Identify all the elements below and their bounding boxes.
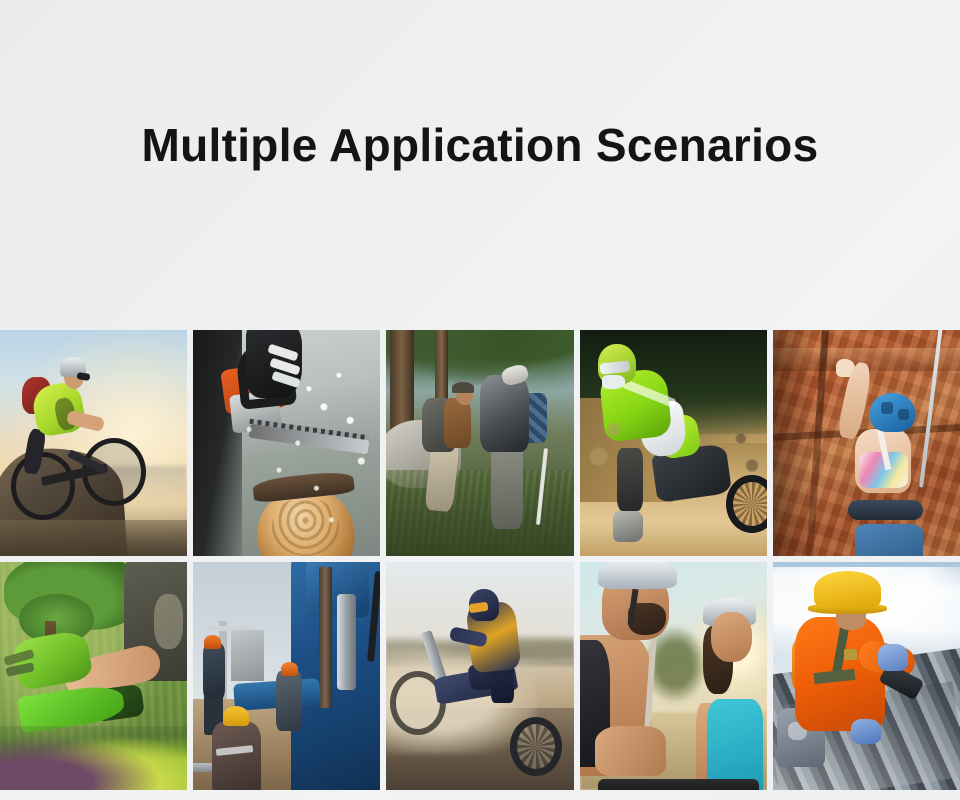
helmet-vent <box>898 409 909 420</box>
forest-floor <box>386 470 573 556</box>
site-panel <box>231 630 265 680</box>
worker-one-body <box>203 644 225 699</box>
gallery-tile-dirt-bike-riding[interactable] <box>386 562 573 790</box>
hiker-two-legs <box>491 443 523 529</box>
worker-two-hard-hat <box>281 662 298 676</box>
blue-glove <box>851 719 881 744</box>
gallery-row-2 <box>0 562 960 790</box>
page-title: Multiple Application Scenarios <box>142 118 819 172</box>
gallery-row-1 <box>0 330 960 556</box>
yellow-hard-hat <box>814 571 881 607</box>
rock-shadow <box>773 330 814 556</box>
worker-two-body <box>276 671 302 730</box>
hydraulic-cylinder <box>337 594 356 690</box>
hiker-one-torso <box>444 398 470 448</box>
gallery-tile-mountain-biking[interactable] <box>0 330 187 556</box>
worker-three-body <box>212 722 261 790</box>
dirt-spray <box>580 330 767 556</box>
sawdust-spray <box>193 330 380 556</box>
gallery-tile-cycling-couple[interactable] <box>580 562 767 790</box>
foreground-plants <box>0 726 187 790</box>
gallery-tile-roofing-work[interactable] <box>773 562 960 790</box>
handlebar <box>598 779 759 790</box>
man-helmet <box>598 562 677 589</box>
bicycle-rear-wheel <box>11 452 75 520</box>
woman-head <box>711 612 752 662</box>
drill-mast <box>319 567 332 708</box>
woman-tank-top <box>707 699 763 790</box>
climbing-harness <box>848 500 923 520</box>
gallery-tile-chainsaw-logging[interactable] <box>193 330 380 556</box>
climber-shorts <box>855 524 922 556</box>
blue-glove <box>878 644 908 671</box>
hero-section: Multiple Application Scenarios <box>0 0 960 330</box>
gallery-tile-drilling-rig-construction[interactable] <box>193 562 380 790</box>
man-arm <box>595 726 666 776</box>
worker-three-hard-hat <box>223 706 249 727</box>
gallery-tile-rock-climbing[interactable] <box>773 330 960 556</box>
shirt-highlight <box>154 594 184 649</box>
harness-buckle <box>844 649 857 660</box>
gallery-tile-hiking-backpacking[interactable] <box>386 330 573 556</box>
helmet-vent <box>881 402 892 413</box>
scenario-gallery <box>0 330 960 790</box>
gallery-tile-motocross-green[interactable] <box>580 330 767 556</box>
worker-one-hard-hat <box>204 635 221 649</box>
gallery-tile-gardening-hedge-trimming[interactable] <box>0 562 187 790</box>
ground-shadow <box>0 520 187 556</box>
hiker-one-cap <box>452 382 474 393</box>
hiker-two-backpack <box>480 375 529 452</box>
